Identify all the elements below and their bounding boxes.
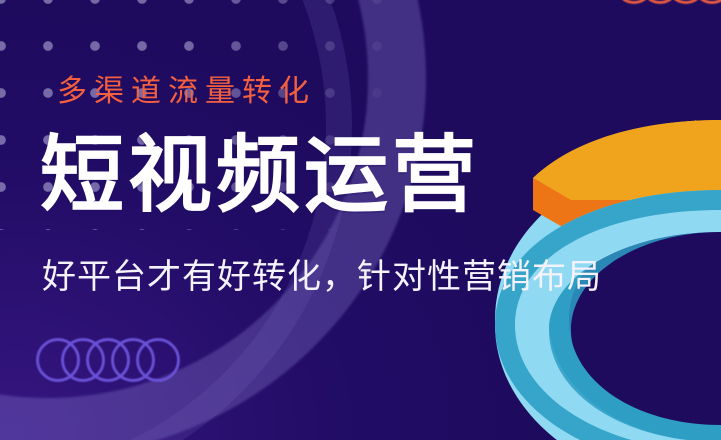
promo-banner: 多渠道流量转化 短视频运营 好平台才有好转化，针对性营销布局	[0, 0, 721, 440]
eyebrow-text: 多渠道流量转化	[57, 66, 316, 110]
text-block: 多渠道流量转化 短视频运营 好平台才有好转化，针对性营销布局	[0, 0, 721, 440]
page-title: 短视频运营	[40, 133, 480, 217]
subtitle-text: 好平台才有好转化，针对性营销布局	[42, 258, 602, 299]
